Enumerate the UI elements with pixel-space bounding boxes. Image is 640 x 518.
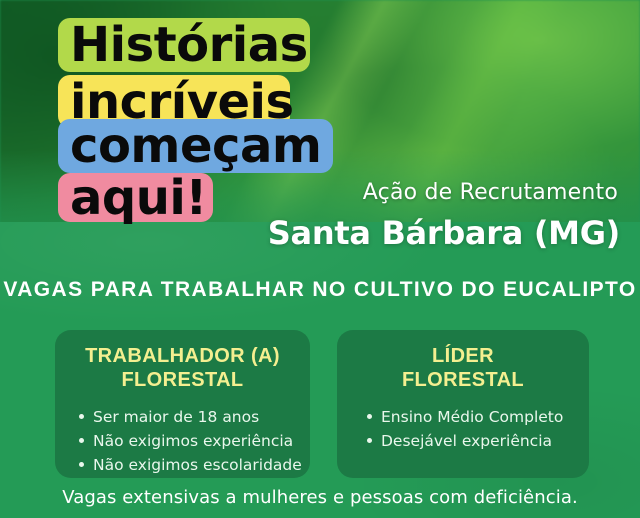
recruitment-poster: Histórias incríveis começam aqui! Ação d…: [0, 0, 640, 518]
job-card-title-line-2: FLORESTAL: [65, 368, 300, 392]
job-requirements-list: Ser maior de 18 anos Não exigimos experi…: [65, 405, 300, 477]
headline-line-4: aqui!: [58, 173, 213, 222]
job-card-title: TRABALHADOR (A) FLORESTAL: [65, 344, 300, 393]
vacancy-banner: VAGAS PARA TRABALHAR NO CULTIVO DO EUCAL…: [0, 278, 640, 302]
headline-line-1: Histórias: [58, 18, 310, 72]
list-item: Desejável experiência: [367, 429, 579, 453]
headline-line-4-text: aqui!: [70, 174, 207, 222]
inclusivity-note: Vagas extensivas a mulheres e pessoas co…: [0, 487, 640, 508]
job-card-trabalhador-florestal: TRABALHADOR (A) FLORESTAL Ser maior de 1…: [55, 330, 310, 478]
job-card-title-line-2: FLORESTAL: [347, 368, 579, 392]
job-card-title-line-1: LÍDER: [432, 345, 494, 367]
list-item: Ser maior de 18 anos: [79, 405, 300, 429]
list-item: Não exigimos experiência: [79, 429, 300, 453]
city-title: Santa Bárbara (MG): [268, 214, 620, 252]
job-card-title-line-1: TRABALHADOR (A): [85, 345, 280, 367]
headline-line-3: começam: [58, 119, 333, 173]
recruitment-kicker: Ação de Recrutamento: [363, 180, 618, 205]
headline-line-3-text: começam: [70, 122, 321, 170]
list-item: Ensino Médio Completo: [367, 405, 579, 429]
job-card-title: LÍDER FLORESTAL: [347, 344, 579, 393]
job-requirements-list: Ensino Médio Completo Desejável experiên…: [347, 405, 579, 453]
job-card-lider-florestal: LÍDER FLORESTAL Ensino Médio Completo De…: [337, 330, 589, 478]
headline-line-1-text: Histórias: [70, 21, 308, 69]
list-item: Não exigimos escolaridade: [79, 453, 300, 477]
